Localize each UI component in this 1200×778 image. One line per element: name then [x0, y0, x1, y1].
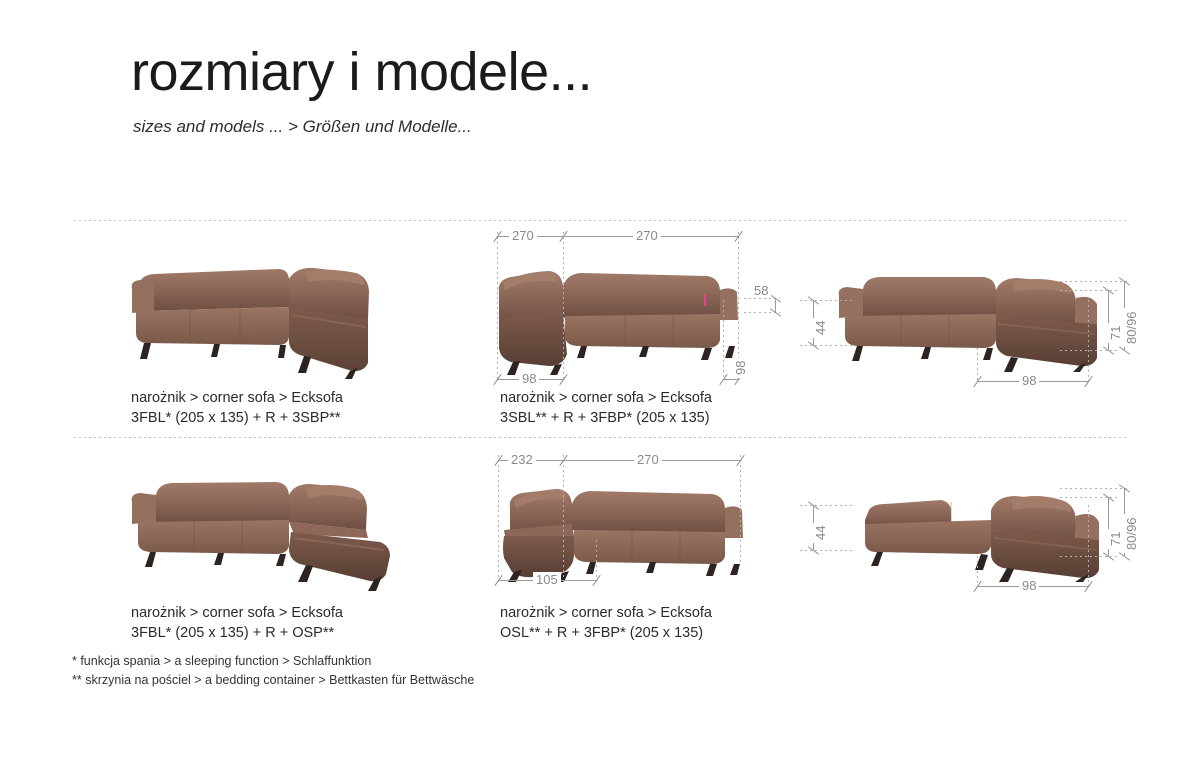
dim-label-44-bottom: 44	[813, 523, 828, 543]
product-1-figure	[128, 255, 418, 385]
accent-marker	[704, 294, 706, 306]
dim-label-8096-top: 80/96	[1124, 308, 1139, 347]
page-title: rozmiary i modele...	[131, 44, 592, 101]
dim-label-8096-bottom: 80/96	[1124, 514, 1139, 553]
product-2-caption-line1: narożnik > corner sofa > Ecksofa	[500, 390, 712, 406]
sofa-drawing-3	[128, 472, 418, 592]
dim-line	[723, 379, 738, 380]
footnote-single-asterisk: * funkcja spania > a sleeping function >…	[72, 652, 474, 671]
divider-top	[74, 220, 1126, 221]
side-view-bottom-figure	[845, 478, 1125, 588]
product-2-caption-line2: 3SBL** + R + 3FBP* (205 x 135)	[500, 408, 712, 428]
ext-line	[1060, 488, 1128, 489]
product-3-figure	[128, 472, 418, 597]
product-1-caption: narożnik > corner sofa > Ecksofa 3FBL* (…	[131, 388, 343, 428]
ext-line	[1088, 505, 1089, 587]
ext-line	[1060, 281, 1128, 282]
dim-label-71-top: 71	[1108, 323, 1123, 343]
dim-label-98-bottom: 98	[519, 371, 539, 386]
page-subtitle: sizes and models ... > Größen und Modell…	[133, 117, 472, 137]
ext-line	[800, 345, 852, 346]
ext-line	[498, 455, 499, 585]
ext-line	[977, 348, 978, 382]
dim-label-270-left: 270	[509, 228, 537, 243]
product-4-caption-line1: narożnik > corner sofa > Ecksofa	[500, 605, 712, 621]
dim-label-98-bottom-side: 98	[1019, 578, 1039, 593]
ext-line	[800, 300, 852, 301]
product-1-caption-line2: 3FBL* (205 x 135) + R + 3SBP**	[131, 408, 343, 428]
catalog-page: rozmiary i modele... sizes and models ..…	[0, 0, 1200, 778]
dim-label-270-bottom: 270	[634, 452, 662, 467]
footnotes: * funkcja spania > a sleeping function >…	[72, 652, 474, 690]
product-4-caption: narożnik > corner sofa > Ecksofa OSL** +…	[500, 603, 712, 643]
product-1-caption-line1: narożnik > corner sofa > Ecksofa	[131, 390, 343, 406]
divider-middle	[74, 437, 1126, 438]
ext-line	[497, 232, 498, 380]
product-4-caption-line2: OSL** + R + 3FBP* (205 x 135)	[500, 623, 712, 643]
ext-line	[563, 232, 564, 380]
ext-line	[740, 455, 741, 565]
dim-line	[775, 298, 776, 312]
ext-line	[723, 300, 724, 380]
side-view-top-figure	[835, 268, 1125, 378]
dim-label-98-top: 98	[1019, 373, 1039, 388]
sofa-drawing-1	[128, 255, 418, 380]
sofa-drawing-2	[497, 258, 759, 376]
ext-line	[800, 505, 852, 506]
product-2-figure	[497, 258, 759, 381]
sofa-drawing-side-top	[835, 268, 1125, 373]
ext-line	[800, 550, 852, 551]
dim-label-58: 58	[751, 283, 771, 298]
dim-label-232: 232	[508, 452, 536, 467]
product-3-caption-line1: narożnik > corner sofa > Ecksofa	[131, 605, 343, 621]
ext-line	[977, 556, 978, 586]
product-3-caption: narożnik > corner sofa > Ecksofa 3FBL* (…	[131, 603, 343, 643]
ext-line	[1088, 300, 1089, 382]
dim-label-98-depth: 98	[733, 358, 748, 378]
product-2-caption: narożnik > corner sofa > Ecksofa 3SBL** …	[500, 388, 712, 428]
dim-label-71-bottom: 71	[1108, 529, 1123, 549]
footnote-double-asterisk: ** skrzynia na pościel > a bedding conta…	[72, 671, 474, 690]
dim-label-44-top: 44	[813, 318, 828, 338]
ext-line	[563, 455, 564, 585]
dim-label-105: 105	[533, 572, 561, 587]
sofa-drawing-4	[500, 478, 762, 583]
sofa-drawing-side-bottom	[845, 478, 1125, 583]
dim-label-270-right: 270	[633, 228, 661, 243]
product-3-caption-line2: 3FBL* (205 x 135) + R + OSP**	[131, 623, 343, 643]
